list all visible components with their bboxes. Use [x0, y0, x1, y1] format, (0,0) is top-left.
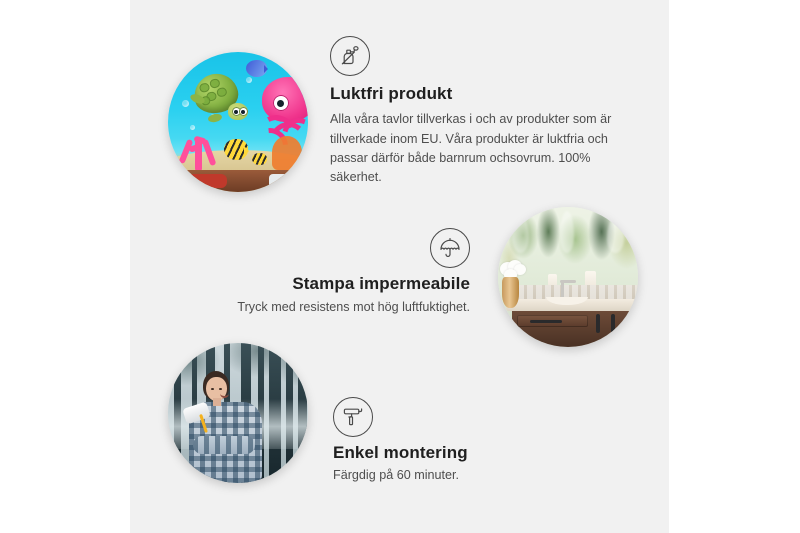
underwater-illustration [168, 52, 308, 192]
bathroom-wallpaper-photo [498, 207, 638, 347]
feature-block-odourless: Luktfri produkt Alla våra tavlor tillver… [330, 36, 635, 187]
coral [176, 125, 218, 173]
orange-coral [272, 136, 303, 170]
painter-woman [188, 371, 275, 483]
feature-body: Tryck med resistens mot hög luftfuktighe… [200, 298, 470, 317]
feature-body: Alla våra tavlor tillverkas i och av pro… [330, 110, 635, 187]
bathroom-illustration [498, 207, 638, 347]
feature-title: Luktfri produkt [330, 84, 635, 104]
no-fragrance-icon [330, 36, 370, 76]
feature-block-easy-assembly: Enkel montering Färgdig på 60 minuter. [333, 397, 583, 486]
yellow-fish [224, 139, 248, 160]
feature-title: Enkel montering [333, 443, 583, 463]
vanity-cabinet [512, 311, 638, 347]
feature-title: Stampa impermeabile [200, 274, 470, 294]
vase [502, 277, 519, 308]
paint-roller-icon [333, 397, 373, 437]
poster-canvas: Luktfri produkt Alla våra tavlor tillver… [0, 0, 800, 533]
painter-forest-photo [168, 343, 308, 483]
underwater-cartoon-photo [168, 52, 308, 192]
blue-fish [246, 60, 267, 77]
feature-block-waterproof: Stampa impermeabile Tryck med resistens … [200, 228, 470, 318]
turtle [190, 72, 249, 122]
forest-illustration [168, 343, 308, 483]
feature-body: Färgdig på 60 minuter. [333, 466, 583, 485]
paint-roller-prop [184, 405, 219, 421]
umbrella-icon [430, 228, 470, 268]
